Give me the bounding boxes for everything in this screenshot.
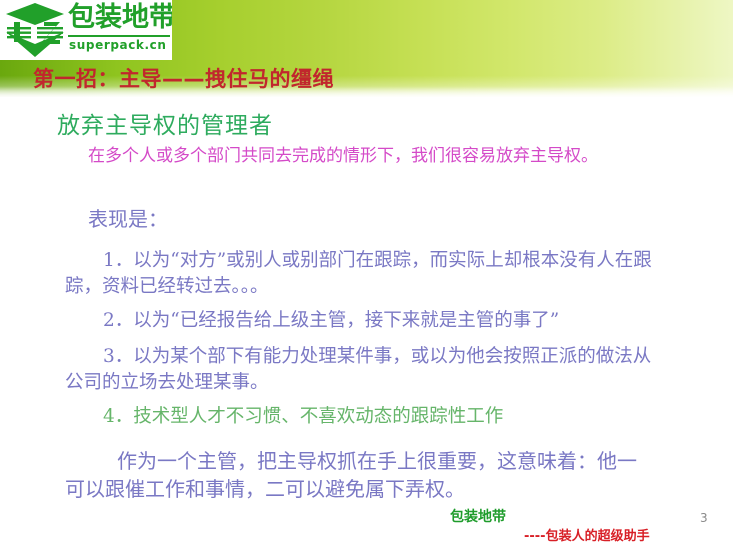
brand-logo: 包装地带 superpack.cn [0, 0, 172, 60]
slide-title: 第一招：主导——拽住马的缰绳 [33, 63, 334, 93]
list-item: 3．以为某个部下有能力处理某件事，或以为他会按照正派的做法从公司的立场去处理某事… [65, 344, 665, 395]
package-box-icon [4, 2, 66, 58]
section-heading: 放弃主导权的管理者 [57, 106, 273, 140]
list-item: 2．以为“已经报告给上级主管，接下来就是主管的事了” [65, 308, 665, 334]
intro-paragraph: 在多个人或多个部门共同去完成的情形下，我们很容易放弃主导权。 [88, 145, 648, 168]
page-number: 3 [700, 511, 708, 525]
logo-divider [68, 35, 170, 37]
conclusion-paragraph: 作为一个主管，把主导权抓在手上很重要，这意味着：他一可以跟催工作和事情，二可以避… [65, 447, 655, 504]
watermark-brand: 包装地带 [450, 506, 506, 526]
logo-url-text: superpack.cn [69, 38, 167, 52]
watermark-tagline: ----包装人的超级助手 [524, 525, 650, 544]
slide-canvas: 包装地带 superpack.cn 第一招：主导——拽住马的缰绳 放弃主导权的管… [0, 0, 733, 550]
logo-brand-text: 包装地带 [68, 3, 172, 33]
list-item: 4．技术型人才不习惯、不喜欢动态的跟踪性工作 [65, 404, 665, 430]
list-item: 1．以为“对方”或别人或别部门在跟踪，而实际上却根本没有人在跟踪，资料已经转过去… [65, 248, 665, 299]
list-label: 表现是： [88, 206, 168, 234]
